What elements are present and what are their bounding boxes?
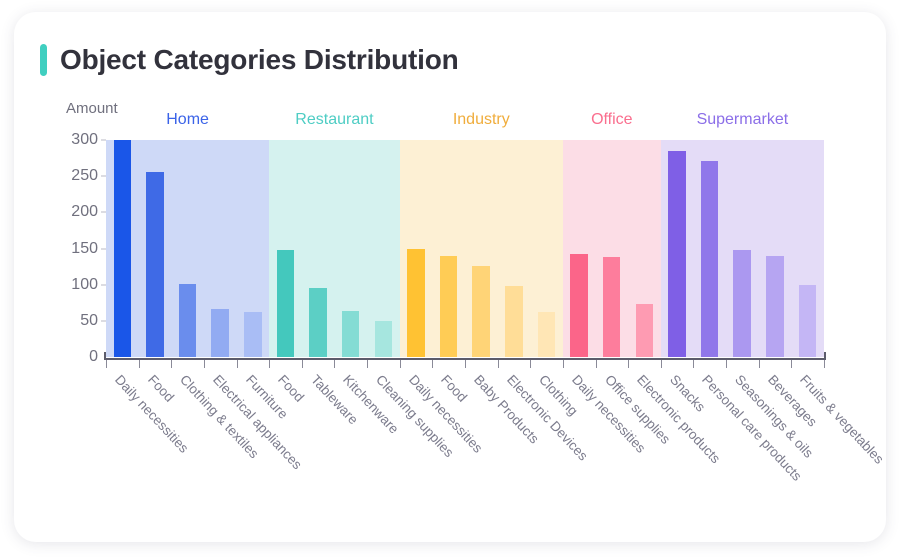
x-tick-mark — [432, 360, 433, 368]
x-tick-mark — [530, 360, 531, 368]
y-tick-mark — [101, 320, 106, 321]
y-tick-mark — [101, 176, 106, 177]
x-tick-mark — [237, 360, 238, 368]
group-label-industry: Industry — [400, 111, 563, 129]
x-tick-mark — [204, 360, 205, 368]
y-tick-label: 150 — [71, 240, 98, 258]
y-tick-label: 300 — [71, 131, 98, 149]
plot-area: HomeRestaurantIndustryOfficeSupermarket … — [106, 140, 824, 357]
x-tick-mark — [106, 360, 107, 368]
x-tick-mark — [628, 360, 629, 368]
x-tick-mark — [367, 360, 368, 368]
x-tick-mark — [171, 360, 172, 368]
group-label-supermarket: Supermarket — [661, 111, 824, 129]
x-tick-mark — [269, 360, 270, 368]
y-tick-label: 50 — [80, 312, 98, 330]
group-label-restaurant: Restaurant — [269, 111, 400, 129]
group-label-office: Office — [563, 111, 661, 129]
x-axis-left-cap — [104, 352, 106, 360]
x-axis-right-cap — [824, 352, 826, 360]
x-tick-mark — [791, 360, 792, 368]
y-tick-label: 0 — [89, 348, 98, 366]
x-tick-mark — [302, 360, 303, 368]
chart-card: Object Categories Distribution Amount Ho… — [14, 12, 886, 542]
y-tick-label: 250 — [71, 167, 98, 185]
y-axis: 050100150200250300 — [106, 140, 824, 357]
x-tick-mark — [498, 360, 499, 368]
title-accent-bar — [40, 44, 47, 76]
y-tick-label: 200 — [71, 203, 98, 221]
x-tick-mark — [334, 360, 335, 368]
y-tick-mark — [101, 284, 106, 285]
page-title: Object Categories Distribution — [60, 44, 459, 76]
x-tick-mark — [465, 360, 466, 368]
x-tick-mark — [759, 360, 760, 368]
y-tick-mark — [101, 140, 106, 141]
x-tick-mark — [693, 360, 694, 368]
y-tick-label: 100 — [71, 276, 98, 294]
x-tick-mark — [563, 360, 564, 368]
y-tick-mark — [101, 212, 106, 213]
x-tick-mark — [824, 360, 825, 368]
group-label-home: Home — [106, 111, 269, 129]
x-tick-mark — [661, 360, 662, 368]
x-tick-mark — [596, 360, 597, 368]
y-tick-mark — [101, 248, 106, 249]
chart-header: Object Categories Distribution — [40, 44, 459, 76]
x-tick-mark — [726, 360, 727, 368]
x-tick-mark — [139, 360, 140, 368]
x-tick-mark — [400, 360, 401, 368]
